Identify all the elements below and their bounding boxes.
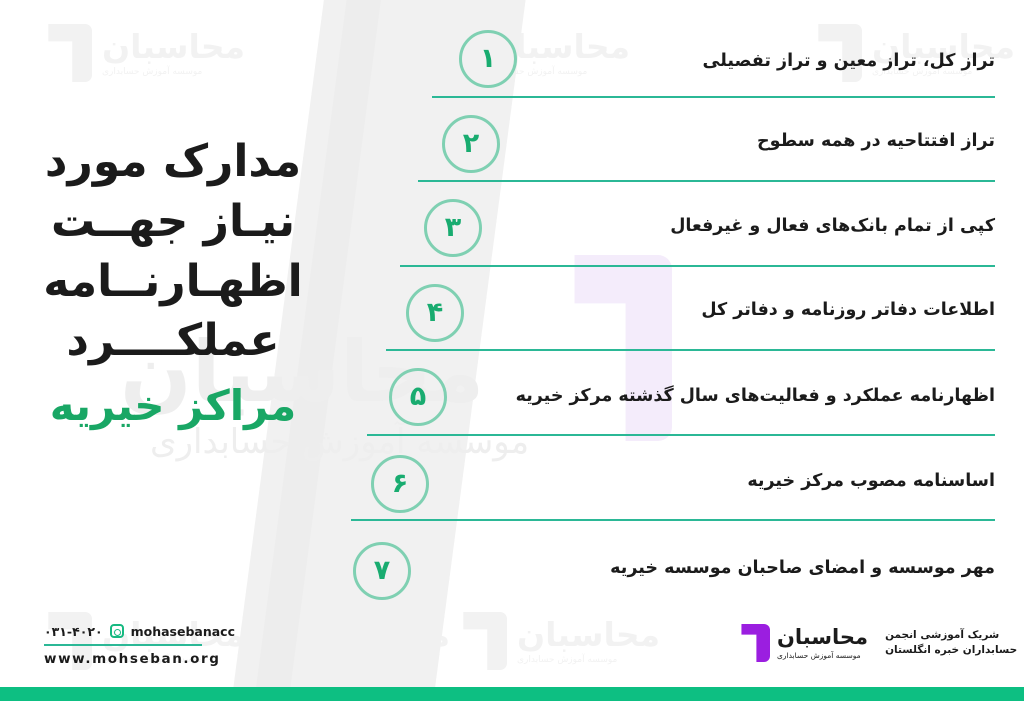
list-separator [432,96,995,98]
footer-contact-row: ۰۳۱-۴۰۲۰ mohasebanacc [44,622,235,640]
website-url[interactable]: www.mohseban.org [44,651,235,667]
list-item-number: ۶ [392,470,408,497]
list-item-text: تراز افتتاحیه در همه سطوح [757,130,995,153]
list-item-number-badge: ۷ [353,542,411,600]
list-item-number: ۲ [463,130,479,157]
phone-number: ۰۳۱-۴۰۲۰ [44,624,103,639]
list-item-number: ۳ [445,214,461,241]
bottom-accent-bar [0,687,1024,701]
list-item-number: ۴ [427,299,443,326]
footer-divider [44,644,202,646]
footer-contact: ۰۳۱-۴۰۲۰ mohasebanacc www.mohseban.org [44,622,235,667]
brand-text: محاسبان موسسه آموزش حسابداری [777,627,868,660]
list-item-text: مهر موسسه و امضای صاحبان موسسه خیریه [610,557,995,580]
list-separator [367,434,995,436]
instagram-handle[interactable]: mohasebanacc [131,624,235,639]
list-item-text: اساسنامه مصوب مرکز خیریه [747,470,995,493]
list-item-number: ۵ [410,383,426,410]
footer-brands: ACCA شریک آموزشی انجمن حسابداران خبره ان… [736,624,1024,662]
list-item-number-badge: ۶ [371,455,429,513]
brand-cube-icon [736,624,770,662]
acca-partner-text: شریک آموزشی انجمن حسابداران خبره انگلستا… [885,628,1017,658]
list-separator [418,180,995,182]
list-item-text: اظهارنامه عملکرد و فعالیت‌های سال گذشته … [516,385,995,408]
watermark-brand-tagline: موسسه آموزش حسابداری [307,656,407,665]
title-line-2: نیـاز جهــت [40,192,306,252]
list-item-number: ۱ [480,45,496,72]
list-item-number-badge: ۴ [406,284,464,342]
list-separator [351,519,995,521]
list-separator [400,265,995,267]
infographic-page: محاسبان موسسه آموزش حسابداری محاسبان موس… [0,0,1024,701]
list-item-number-badge: ۱ [459,30,517,88]
list-item-number: ۷ [374,557,390,584]
acca-partner-logo: ACCA شریک آموزشی انجمن حسابداران خبره ان… [885,627,1024,659]
brand-tagline: موسسه آموزش حسابداری [777,652,861,660]
brand-name: محاسبان [777,627,868,648]
watermark-brand-tagline: موسسه آموزش حسابداری [517,656,617,665]
acca-partner-line-2: حسابداران خبره انگلستان [885,643,1017,658]
mohaseban-logo: محاسبان موسسه آموزش حسابداری [736,624,868,662]
title-line-1: مدارک مورد [40,132,306,192]
title-line-3: اظهـارنــامه [40,252,306,312]
list-item-text: کپی از تمام بانک‌های فعال و غیرفعال [670,215,995,238]
page-title: مدارک مورد نیـاز جهــت اظهـارنــامه عملک… [40,132,306,434]
title-line-4: عملکــــرد [40,311,306,371]
instagram-icon[interactable] [110,624,124,638]
list-item-number-badge: ۲ [442,115,500,173]
list-item-text: اطلاعات دفاتر روزنامه و دفاتر کل [701,299,995,322]
list-item-number-badge: ۳ [424,199,482,257]
list-separator [386,349,995,351]
list-item-text: تراز کل، تراز معین و تراز تفصیلی [703,50,995,73]
title-accent: مراکز خیریه [40,377,306,434]
acca-partner-line-1: شریک آموزشی انجمن [885,628,999,643]
list-item-number-badge: ۵ [389,368,447,426]
